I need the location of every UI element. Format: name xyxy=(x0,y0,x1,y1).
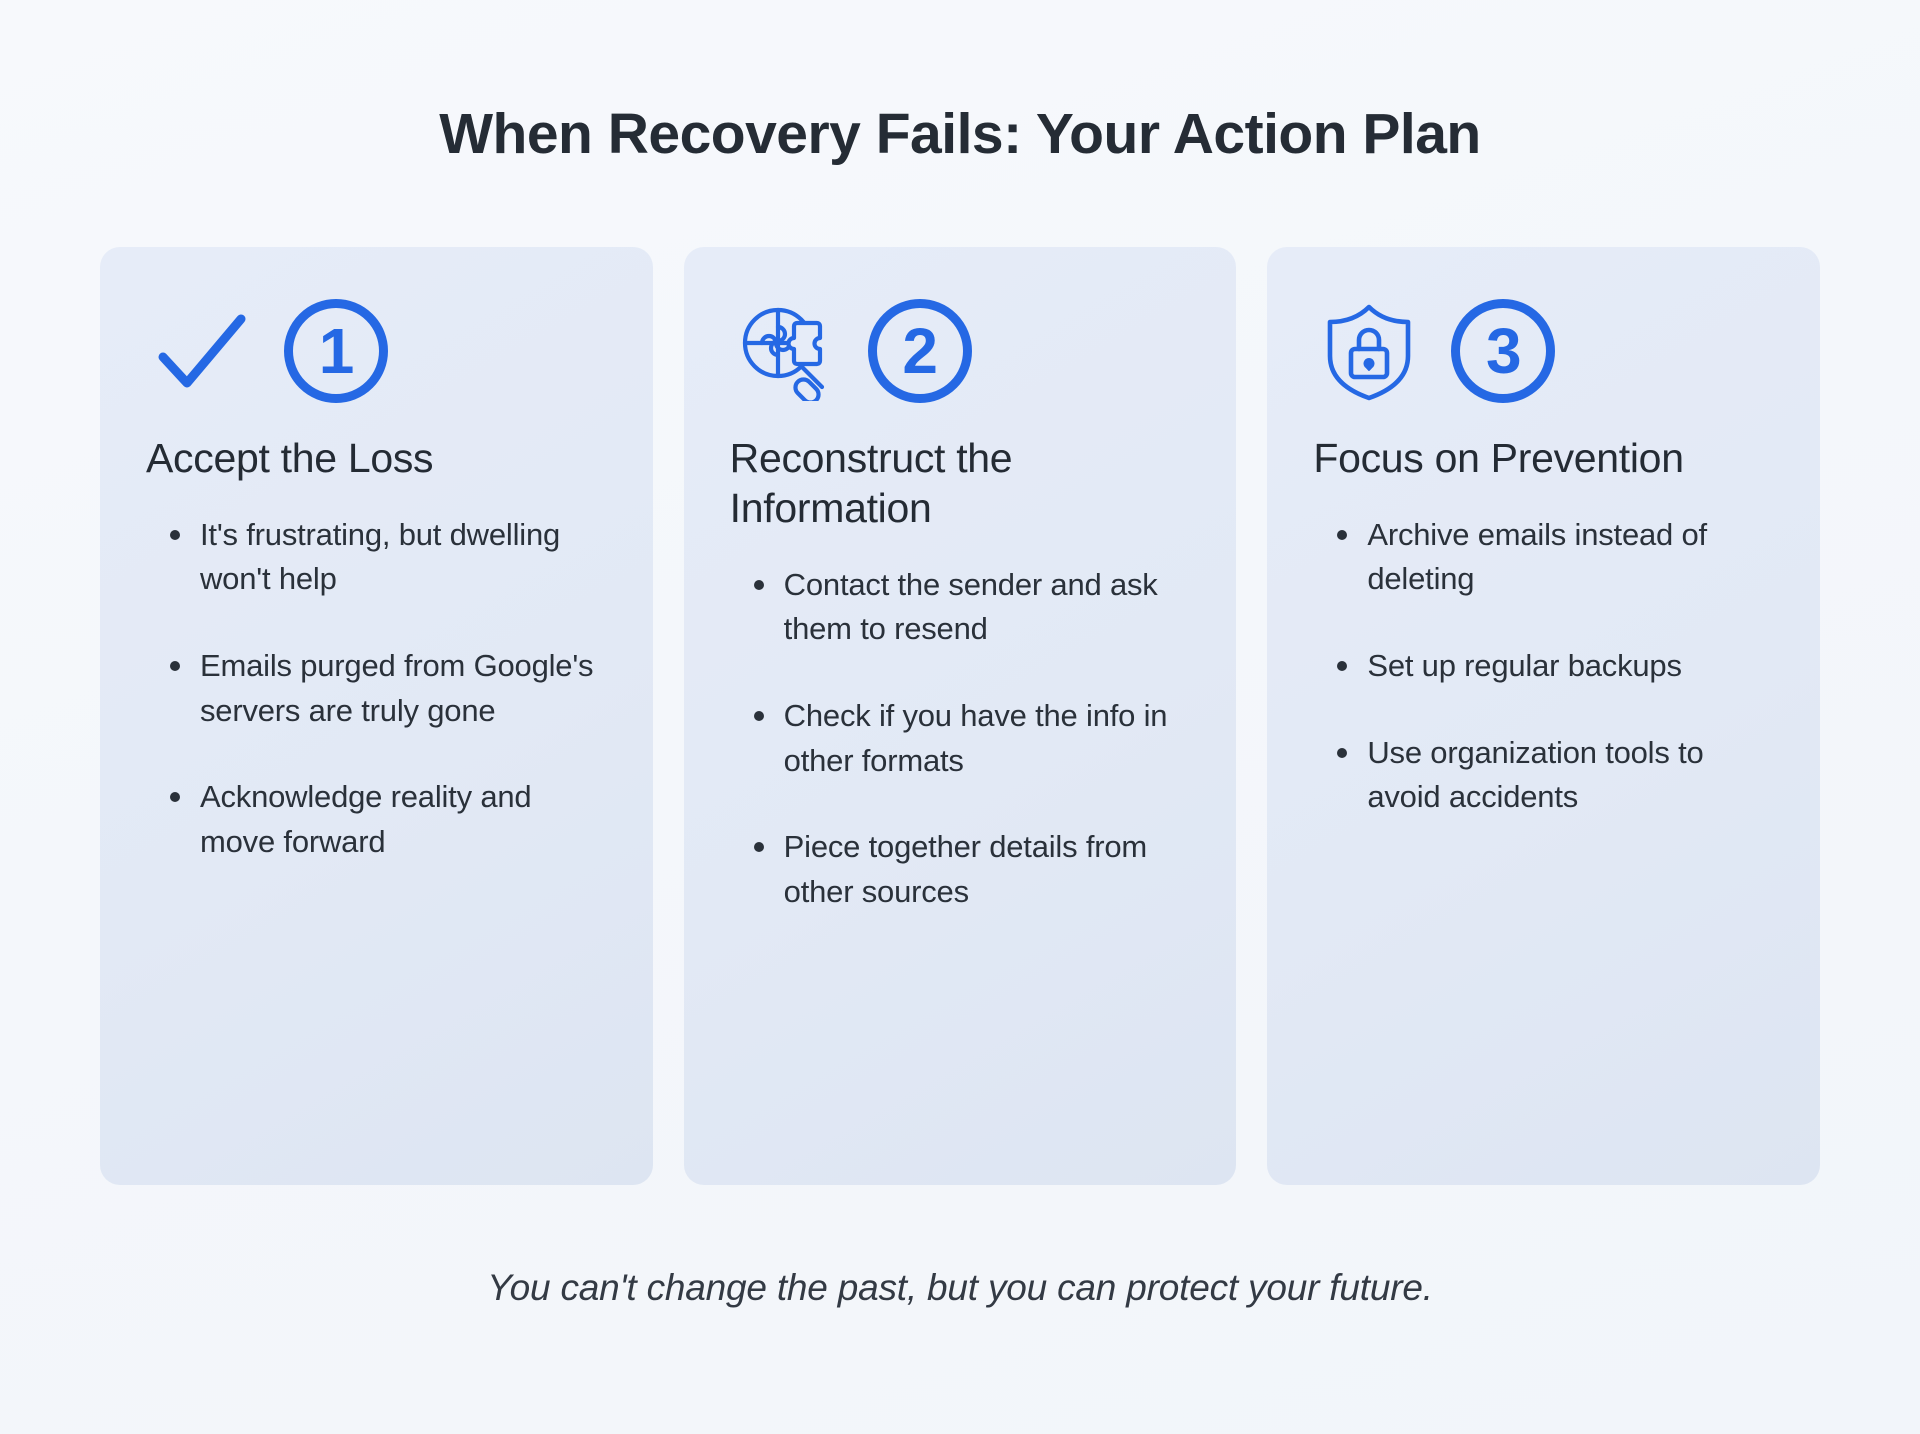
shield-lock-icon xyxy=(1315,299,1423,403)
list-item-label: Archive emails instead of deleting xyxy=(1367,517,1707,597)
bullet-dot xyxy=(1337,530,1347,540)
step-number: 2 xyxy=(902,319,937,383)
list-item: Piece together details from other source… xyxy=(754,825,1197,914)
list-item: It's frustrating, but dwelling won't hel… xyxy=(170,513,613,602)
card-accept-the-loss: 1 Accept the Loss It's frustrating, but … xyxy=(100,247,653,1185)
bullet-dot xyxy=(754,711,764,721)
card-reconstruct-the-information: 2 Reconstruct the Information Contact th… xyxy=(684,247,1237,1185)
list-item-label: It's frustrating, but dwelling won't hel… xyxy=(200,517,560,597)
card-header: 3 xyxy=(1307,295,1780,407)
card-header: 1 xyxy=(140,295,613,407)
card-focus-on-prevention: 3 Focus on Prevention Archive emails ins… xyxy=(1267,247,1820,1185)
check-mark-icon xyxy=(148,299,256,403)
list-item-label: Contact the sender and ask them to resen… xyxy=(784,567,1158,647)
card-bullet-list: It's frustrating, but dwelling won't hel… xyxy=(140,513,613,865)
step-number: 1 xyxy=(319,319,354,383)
card-bullet-list: Archive emails instead of deleting Set u… xyxy=(1307,513,1780,820)
list-item: Set up regular backups xyxy=(1337,644,1780,689)
card-bullet-list: Contact the sender and ask them to resen… xyxy=(724,563,1197,915)
puzzle-magnifier-icon xyxy=(732,299,840,403)
step-number-badge: 1 xyxy=(284,299,388,403)
infographic-page: When Recovery Fails: Your Action Plan 1 … xyxy=(0,0,1920,1434)
bullet-dot xyxy=(170,530,180,540)
list-item-label: Acknowledge reality and move forward xyxy=(200,779,531,859)
list-item-label: Check if you have the info in other form… xyxy=(784,698,1168,778)
bullet-dot xyxy=(1337,748,1347,758)
list-item-label: Set up regular backups xyxy=(1367,648,1681,683)
list-item: Check if you have the info in other form… xyxy=(754,694,1197,783)
cards-row: 1 Accept the Loss It's frustrating, but … xyxy=(0,247,1920,1185)
list-item: Archive emails instead of deleting xyxy=(1337,513,1780,602)
card-title: Reconstruct the Information xyxy=(730,433,1197,533)
step-number: 3 xyxy=(1486,319,1521,383)
card-title: Accept the Loss xyxy=(146,433,613,483)
bullet-dot xyxy=(754,580,764,590)
bullet-dot xyxy=(1337,661,1347,671)
step-number-badge: 2 xyxy=(868,299,972,403)
list-item-label: Use organization tools to avoid accident… xyxy=(1367,735,1703,815)
bullet-dot xyxy=(170,792,180,802)
bullet-dot xyxy=(170,661,180,671)
footer-note: You can't change the past, but you can p… xyxy=(0,1185,1920,1309)
card-header: 2 xyxy=(724,295,1197,407)
list-item: Acknowledge reality and move forward xyxy=(170,775,613,864)
list-item-label: Piece together details from other source… xyxy=(784,829,1147,909)
step-number-badge: 3 xyxy=(1451,299,1555,403)
list-item: Contact the sender and ask them to resen… xyxy=(754,563,1197,652)
bullet-dot xyxy=(754,842,764,852)
list-item: Use organization tools to avoid accident… xyxy=(1337,731,1780,820)
list-item-label: Emails purged from Google's servers are … xyxy=(200,648,593,728)
card-title: Focus on Prevention xyxy=(1313,433,1780,483)
page-title: When Recovery Fails: Your Action Plan xyxy=(0,0,1920,166)
list-item: Emails purged from Google's servers are … xyxy=(170,644,613,733)
